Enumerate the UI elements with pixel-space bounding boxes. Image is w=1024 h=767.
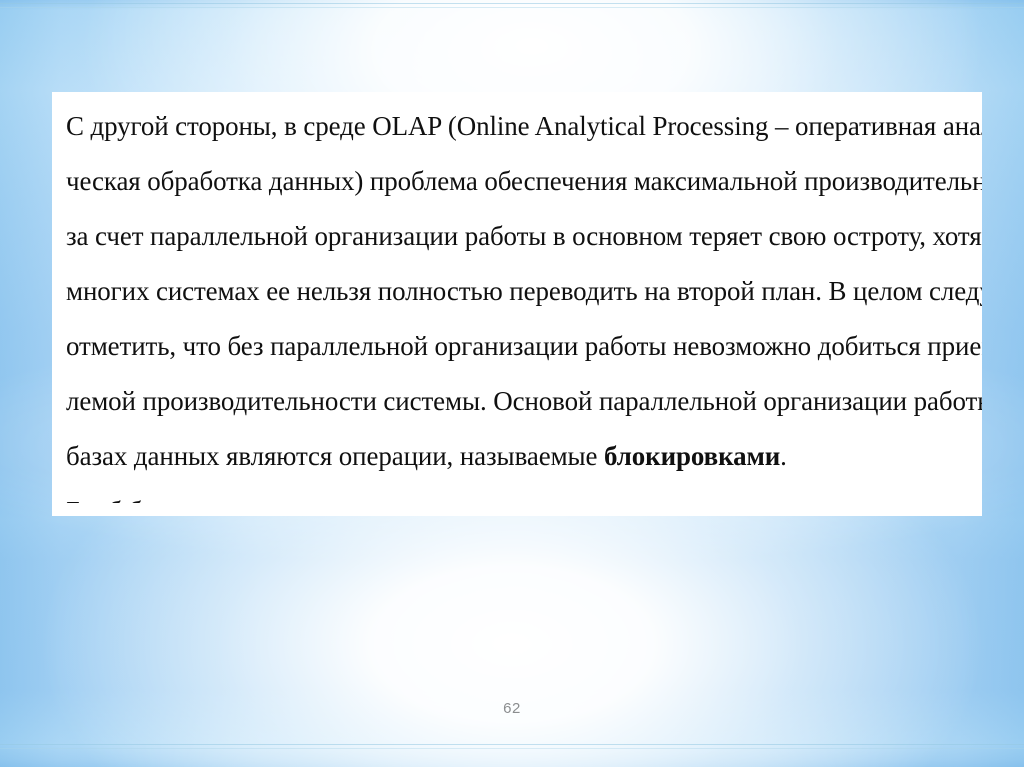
bottom-hairline-1 [0, 744, 1024, 745]
bottom-hairline-2 [0, 748, 1024, 749]
scan-text-line-3: за счет параллельной организации работы … [66, 208, 958, 263]
scan-text-line-2: ческая обработка данных) проблема обеспе… [66, 153, 958, 208]
scan-text-line-8-clipped: Б д б б [66, 483, 958, 503]
scan-text-line-7-lead: базах данных являются операции, называем… [66, 440, 604, 471]
scan-text-line-7-tail: . [780, 440, 787, 471]
scan-text-line-1: С другой стороны, в среде OLAP (Online A… [66, 98, 958, 153]
top-hairline-1 [0, 3, 1024, 4]
scan-text-line-5: отметить, что без параллельной организац… [66, 318, 958, 373]
page-number: 62 [0, 700, 1024, 717]
scan-text-line-7: базах данных являются операции, называем… [66, 428, 958, 483]
scan-text-emphasis-blokirovkami: блокировками [604, 440, 780, 471]
scanned-paragraph: С другой стороны, в среде OLAP (Online A… [66, 98, 976, 503]
scan-text-line-4: многих системах ее нельзя полностью пере… [66, 263, 958, 318]
scanned-text-image: С другой стороны, в среде OLAP (Online A… [52, 92, 982, 516]
scan-text-line-6: лемой производительности системы. Осново… [66, 373, 958, 428]
slide-canvas: С другой стороны, в среде OLAP (Online A… [0, 0, 1024, 767]
top-hairline-2 [0, 7, 1024, 8]
